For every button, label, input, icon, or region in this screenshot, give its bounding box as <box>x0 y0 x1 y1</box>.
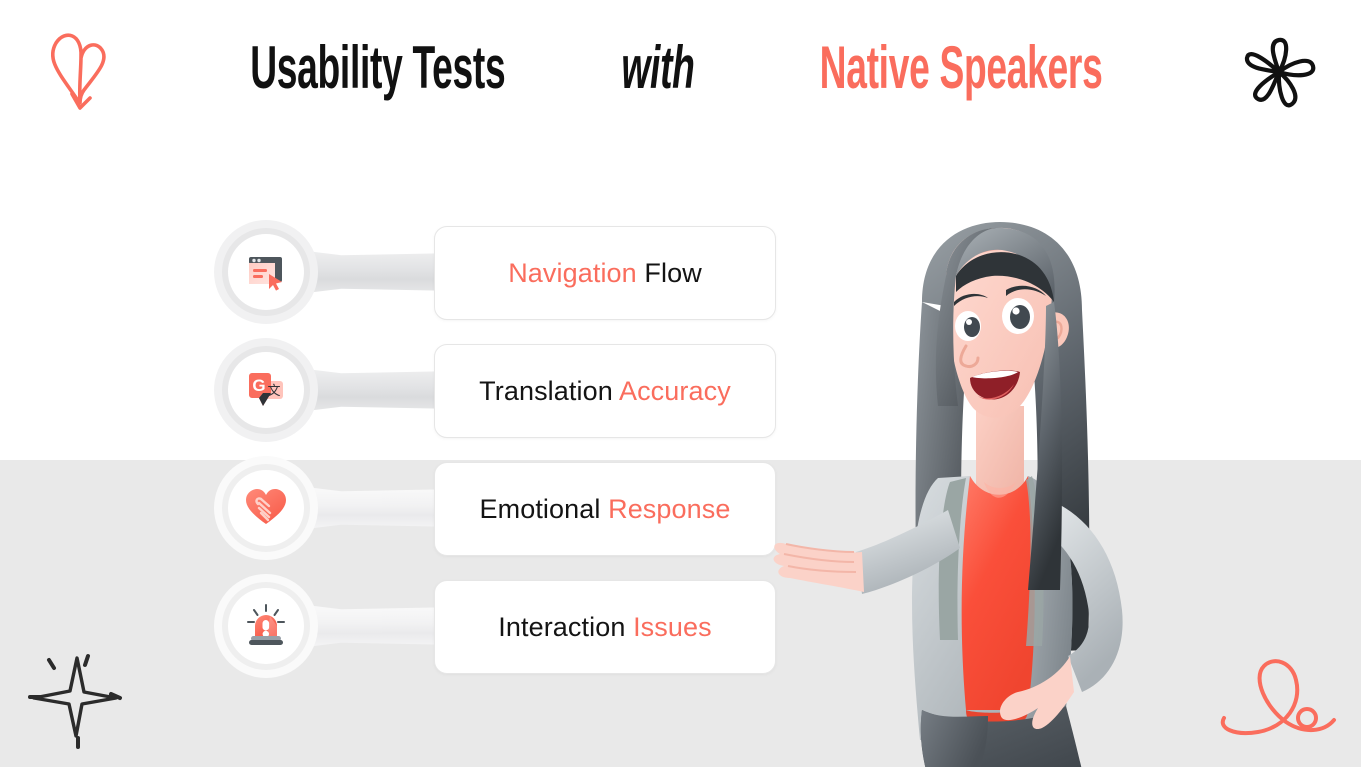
flower-doodle-icon <box>1238 34 1320 114</box>
item-word-2: Issues <box>633 612 712 642</box>
list-item[interactable]: Emotional Response <box>214 458 794 558</box>
icon-badge[interactable]: G 文 <box>228 352 304 428</box>
title-part-3: Native Speakers <box>820 38 1103 98</box>
title-part-2: with <box>622 38 695 98</box>
item-word-1: Navigation <box>508 258 637 288</box>
item-word-1: Emotional <box>480 494 601 524</box>
woman-presenter-illustration <box>770 210 1190 767</box>
translate-icon: G 文 <box>243 367 289 413</box>
icon-badge[interactable] <box>228 470 304 546</box>
icon-badge[interactable] <box>228 234 304 310</box>
item-card[interactable]: Emotional Response <box>434 462 776 556</box>
svg-text:文: 文 <box>267 384 280 399</box>
slide-canvas: Usability Tests with Native Speakers <box>0 0 1361 767</box>
item-card[interactable]: Translation Accuracy <box>434 344 776 438</box>
title-part-1: Usability Tests <box>250 38 505 98</box>
heart-arrow-doodle-icon <box>38 28 118 116</box>
item-word-1: Interaction <box>498 612 625 642</box>
page-title: Usability Tests with Native Speakers <box>0 38 1361 98</box>
item-card-label: Emotional Response <box>480 494 731 525</box>
item-word-2: Accuracy <box>619 376 731 406</box>
list-item[interactable]: Interaction Issues <box>214 576 794 676</box>
cursive-loop-doodle-icon <box>1212 652 1346 748</box>
list-item[interactable]: G 文 Translation Accuracy <box>214 340 794 440</box>
item-word-2: Flow <box>644 258 701 288</box>
star-sparkle-doodle-icon <box>24 638 124 750</box>
item-card[interactable]: Interaction Issues <box>434 580 776 674</box>
alert-siren-icon <box>243 603 289 649</box>
heart-hand-icon <box>243 485 289 531</box>
list-item[interactable]: Navigation Flow <box>214 222 794 322</box>
item-card-label: Navigation Flow <box>508 258 702 289</box>
item-word-2: Response <box>608 494 730 524</box>
item-card[interactable]: Navigation Flow <box>434 226 776 320</box>
icon-badge[interactable] <box>228 588 304 664</box>
item-card-label: Translation Accuracy <box>479 376 731 407</box>
svg-text:G: G <box>252 376 265 395</box>
item-card-label: Interaction Issues <box>498 612 711 643</box>
item-word-1: Translation <box>479 376 613 406</box>
browser-cursor-icon <box>243 249 289 295</box>
